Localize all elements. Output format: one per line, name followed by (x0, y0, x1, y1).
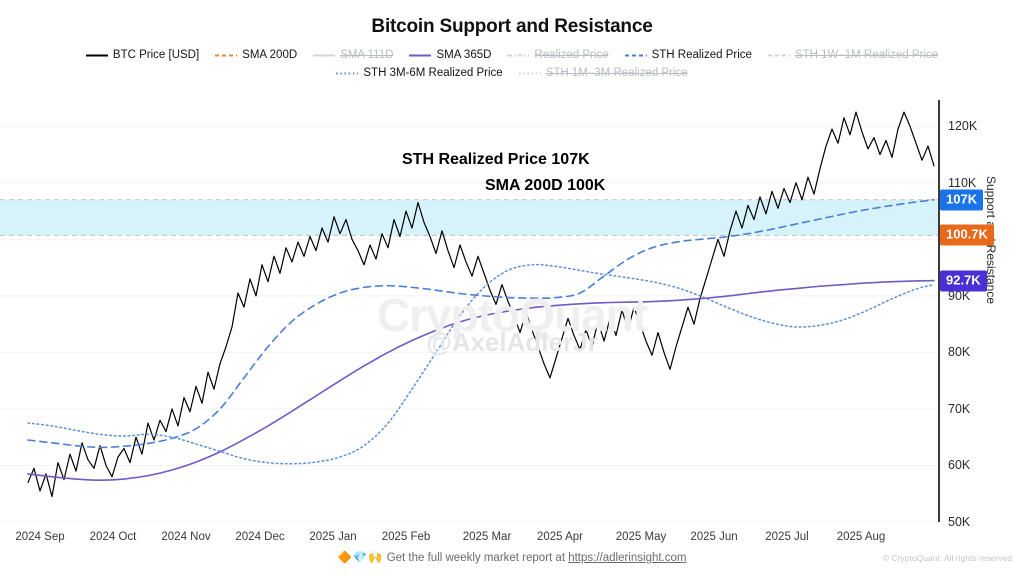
y-axis-tick-80K: 80K (948, 345, 970, 359)
x-axis-tick-9: 2025 Jun (690, 531, 737, 543)
legend-item-7[interactable]: STH 3M-6M Realized Price (336, 66, 502, 81)
legend-item-label: STH Realized Price (652, 48, 752, 63)
x-axis-tick-6: 2025 Mar (463, 531, 512, 543)
legend-item-label: SMA 365D (436, 48, 491, 63)
legend-item-4[interactable]: Realized Price (507, 48, 608, 63)
x-axis-tick-4: 2025 Jan (309, 531, 356, 543)
y-axis-tick-110K: 110K (948, 176, 976, 190)
legend-swatch-icon (86, 50, 108, 61)
legend-item-label: Realized Price (534, 48, 608, 63)
legend-item-3[interactable]: SMA 365D (409, 48, 491, 63)
y-axis-tick-70K: 70K (948, 402, 970, 416)
sma-200d-annotation: SMA 200D 100K (485, 177, 605, 195)
sma-365d-badge: 92.7K (940, 270, 987, 291)
sma-200d-badge: 100.7K (940, 225, 994, 246)
legend-item-1[interactable]: SMA 200D (215, 48, 297, 63)
legend-item-2[interactable]: SMA 111D (313, 48, 393, 63)
x-axis-tick-5: 2025 Feb (382, 531, 431, 543)
x-axis-tick-7: 2025 Apr (537, 531, 583, 543)
series-0 (28, 112, 934, 496)
legend-swatch-icon (768, 50, 790, 61)
page-title: Bitcoin Support and Resistance (0, 16, 1024, 38)
legend-swatch-icon (519, 68, 541, 79)
legend-item-label: STH 1W–1M Realized Price (795, 48, 938, 63)
legend-item-label: SMA 200D (242, 48, 297, 63)
support-resistance-band (0, 200, 938, 236)
x-axis-tick-3: 2024 Dec (235, 531, 284, 543)
x-axis-tick-8: 2025 May (616, 531, 667, 543)
y-axis-tick-60K: 60K (948, 458, 970, 472)
footer-note: 🔶💎🙌 Get the full weekly market report at… (0, 550, 1024, 564)
legend-item-label: STH 1M–3M Realized Price (546, 66, 688, 81)
x-axis-tick-11: 2025 Aug (837, 531, 886, 543)
legend-swatch-icon (215, 50, 237, 61)
legend-item-0[interactable]: BTC Price [USD] (86, 48, 199, 63)
footer-link[interactable]: https://adlerinsight.com (568, 552, 686, 564)
x-axis-tick-2: 2024 Nov (161, 531, 210, 543)
x-axis-tick-1: 2024 Oct (90, 531, 137, 543)
y-axis-spine (938, 100, 940, 522)
legend-item-label: SMA 111D (340, 48, 393, 63)
x-axis-tick-10: 2025 Jul (765, 531, 808, 543)
legend-swatch-icon (313, 50, 335, 61)
sth-realized-price-badge: 107K (940, 189, 983, 210)
legend-swatch-icon (409, 50, 431, 61)
copyright-notice: © CryptoQuant. All rights reserved (883, 553, 1012, 563)
sth-realized-price-annotation: STH Realized Price 107K (402, 151, 590, 169)
x-axis-tick-0: 2024 Sep (15, 531, 64, 543)
legend-item-label: STH 3M-6M Realized Price (363, 66, 502, 81)
chart-legend: BTC Price [USD]SMA 200DSMA 111DSMA 365DR… (0, 48, 1024, 81)
legend-swatch-icon (507, 50, 529, 61)
series-2 (28, 200, 934, 448)
series-3 (28, 265, 934, 464)
legend-item-5[interactable]: STH Realized Price (625, 48, 752, 63)
footer-text: Get the full weekly market report at (387, 552, 569, 564)
legend-item-6[interactable]: STH 1W–1M Realized Price (768, 48, 938, 63)
y-axis-tick-50K: 50K (948, 515, 970, 529)
series-1 (28, 281, 934, 481)
legend-item-label: BTC Price [USD] (113, 48, 199, 63)
footer-emojis: 🔶💎🙌 (338, 552, 384, 564)
legend-swatch-icon (625, 50, 647, 61)
y-axis-tick-120K: 120K (948, 119, 977, 133)
legend-swatch-icon (336, 68, 358, 79)
bitcoin-support-resistance-chart: Bitcoin Support and Resistance BTC Price… (0, 0, 1024, 576)
legend-item-8[interactable]: STH 1M–3M Realized Price (519, 66, 688, 81)
